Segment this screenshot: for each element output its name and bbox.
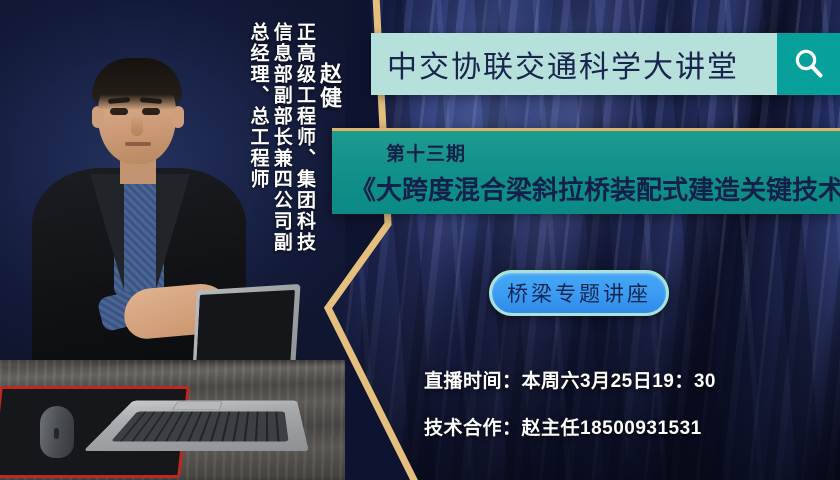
lecture-title: 《大跨度混合梁斜拉桥装配式建造关键技术》: [350, 170, 830, 207]
speaker-nose: [131, 116, 143, 136]
speaker-ear-right: [172, 106, 184, 128]
issue-number: 第十三期: [386, 139, 830, 166]
laptop-keyboard: [111, 412, 289, 442]
speaker-lapel-right: [156, 174, 190, 290]
speaker-mouth: [125, 142, 151, 146]
computer-mouse: [40, 406, 74, 458]
broadcast-time: 直播时间：本周六3月25日19：30: [424, 366, 716, 393]
webinar-poster: 总经理、总工程师 信息部副部长兼四公司副 正高级工程师、集团科技 赵健 中交协联…: [0, 0, 840, 480]
speaker-eye-right: [142, 108, 160, 115]
speaker-credits: 总经理、总工程师 信息部副部长兼四公司副 正高级工程师、集团科技: [247, 22, 315, 253]
speaker-name: 赵健: [316, 62, 341, 110]
lecture-banner: 第十三期 《大跨度混合梁斜拉桥装配式建造关键技术》: [332, 128, 840, 214]
speaker-lapel-left: [90, 174, 124, 290]
speaker-panel: 总经理、总工程师 信息部副部长兼四公司副 正高级工程师、集团科技 赵健: [0, 0, 345, 480]
laptop-trackpad: [172, 402, 223, 410]
speaker-eye-left: [110, 108, 128, 115]
technical-contact: 技术合作：赵主任18500931531: [424, 413, 716, 440]
speaker-credit-line-3: 正高级工程师、集团科技: [294, 22, 315, 253]
broadcast-info: 直播时间：本周六3月25日19：30 技术合作：赵主任18500931531: [424, 366, 716, 460]
speaker-credit-line-2: 信息部副部长兼四公司副: [270, 22, 291, 253]
topic-badge-label: 桥梁专题讲座: [507, 278, 651, 308]
speaker-credit-line-1: 总经理、总工程师: [247, 22, 268, 190]
search-icon: [792, 47, 826, 81]
speaker-hair: [92, 58, 182, 110]
header-title-container: 中交协联交通科学大讲堂: [371, 33, 777, 95]
page-title: 中交协联交通科学大讲堂: [387, 42, 739, 86]
header-bar: 中交协联交通科学大讲堂: [371, 33, 840, 95]
topic-badge[interactable]: 桥梁专题讲座: [489, 270, 669, 316]
search-button[interactable]: [777, 33, 840, 95]
